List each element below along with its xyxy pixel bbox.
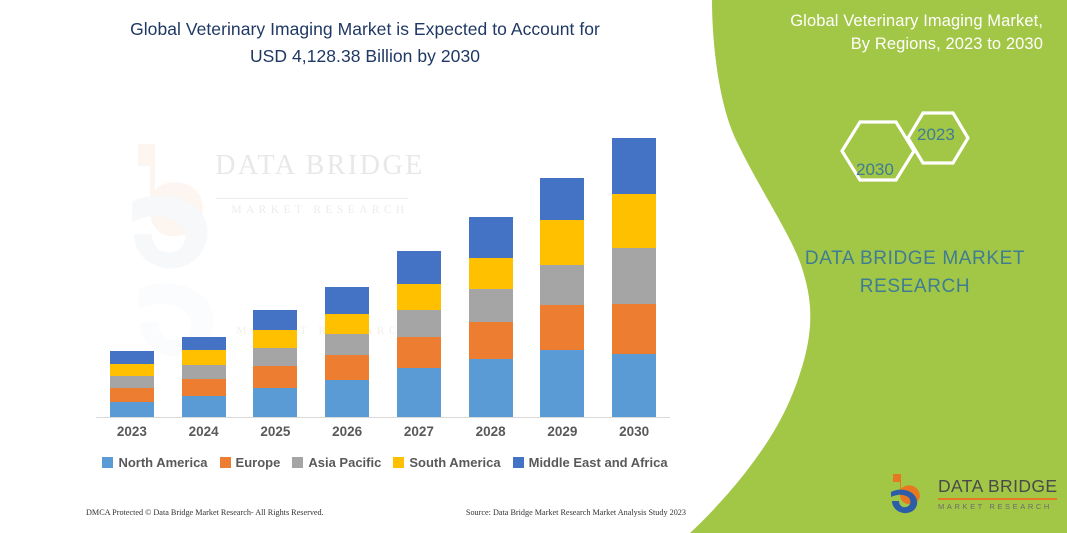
- x-axis-labels: 20232024202520262027202820292030: [96, 424, 670, 446]
- bar-segment-europe[interactable]: [253, 366, 297, 388]
- bar-segment-asia-pacific[interactable]: [325, 334, 369, 355]
- bar-column-2029[interactable]: [540, 178, 584, 418]
- panel-title-line1: Global Veterinary Imaging Market,: [743, 10, 1043, 33]
- footer-right-text: Source: Data Bridge Market Research Mark…: [466, 508, 686, 517]
- bar-segment-europe[interactable]: [540, 305, 584, 350]
- bar-segment-middle-east-and-africa[interactable]: [540, 178, 584, 220]
- bar-segment-north-america[interactable]: [612, 354, 656, 418]
- bar-segment-north-america[interactable]: [325, 380, 369, 418]
- bar-segment-europe[interactable]: [612, 304, 656, 354]
- bar-segment-south-america[interactable]: [540, 220, 584, 265]
- legend-label: North America: [118, 455, 207, 470]
- bar-segment-south-america[interactable]: [612, 194, 656, 248]
- bar-segment-asia-pacific[interactable]: [540, 265, 584, 305]
- hex-label-2030: 2030: [856, 160, 894, 180]
- bar-column-2026[interactable]: [325, 287, 369, 418]
- legend-label: Europe: [236, 455, 281, 470]
- legend-item-europe[interactable]: Europe: [220, 455, 281, 470]
- bar-segment-europe[interactable]: [182, 379, 226, 396]
- chart-title-line1: Global Veterinary Imaging Market is Expe…: [40, 16, 690, 43]
- bar-segment-middle-east-and-africa[interactable]: [253, 310, 297, 330]
- bar-segment-south-america[interactable]: [110, 364, 154, 376]
- bar-column-2028[interactable]: [469, 217, 513, 418]
- bar-segment-asia-pacific[interactable]: [253, 348, 297, 366]
- bar-segment-europe[interactable]: [110, 388, 154, 402]
- bar-column-2030[interactable]: [612, 138, 656, 418]
- infographic-canvas: Global Veterinary Imaging Market, By Reg…: [0, 0, 1067, 533]
- bar-segment-europe[interactable]: [397, 337, 441, 368]
- logo-divider: [938, 498, 1057, 500]
- legend-swatch-icon: [292, 457, 303, 468]
- bar-segment-north-america[interactable]: [540, 350, 584, 418]
- bar-segment-middle-east-and-africa[interactable]: [612, 138, 656, 194]
- panel-title-line2: By Regions, 2023 to 2030: [743, 33, 1043, 56]
- bar-segment-north-america[interactable]: [397, 368, 441, 418]
- logo-name-big: DATA BRIDGE: [938, 478, 1057, 496]
- brand-line-1: DATA BRIDGE MARKET: [790, 245, 1040, 273]
- bar-column-2024[interactable]: [182, 337, 226, 418]
- bar-segment-north-america[interactable]: [469, 359, 513, 418]
- legend-item-south-america[interactable]: South America: [393, 455, 500, 470]
- panel-brand-text: DATA BRIDGE MARKET RESEARCH: [790, 245, 1040, 300]
- x-axis-label-2027: 2027: [383, 424, 455, 439]
- legend-label: Asia Pacific: [308, 455, 381, 470]
- bar-column-2023[interactable]: [110, 351, 154, 418]
- legend-item-asia-pacific[interactable]: Asia Pacific: [292, 455, 381, 470]
- bar-segment-middle-east-and-africa[interactable]: [325, 287, 369, 314]
- x-axis-label-2023: 2023: [96, 424, 168, 439]
- legend-swatch-icon: [102, 457, 113, 468]
- data-bridge-logo: DATA BRIDGE MARKET RESEARCH: [888, 470, 1058, 518]
- legend-item-north-america[interactable]: North America: [102, 455, 207, 470]
- x-axis-label-2030: 2030: [598, 424, 670, 439]
- bar-column-2025[interactable]: [253, 310, 297, 418]
- stacked-bar-chart: [96, 118, 670, 418]
- bar-segment-north-america[interactable]: [182, 396, 226, 418]
- legend-item-middle-east-and-africa[interactable]: Middle East and Africa: [513, 455, 668, 470]
- legend-swatch-icon: [393, 457, 404, 468]
- legend-label: South America: [409, 455, 500, 470]
- bar-segment-north-america[interactable]: [253, 388, 297, 418]
- x-axis-label-2026: 2026: [311, 424, 383, 439]
- footer: DMCA Protected © Data Bridge Market Rese…: [86, 508, 686, 517]
- bar-segment-asia-pacific[interactable]: [110, 376, 154, 388]
- footer-left-text: DMCA Protected © Data Bridge Market Rese…: [86, 508, 324, 517]
- panel-title: Global Veterinary Imaging Market, By Reg…: [743, 10, 1043, 57]
- bar-segment-asia-pacific[interactable]: [182, 365, 226, 379]
- bar-column-2027[interactable]: [397, 251, 441, 418]
- x-axis-label-2028: 2028: [455, 424, 527, 439]
- bar-segment-south-america[interactable]: [325, 314, 369, 334]
- bar-segment-europe[interactable]: [325, 355, 369, 380]
- bar-segment-europe[interactable]: [469, 322, 513, 359]
- bar-segment-middle-east-and-africa[interactable]: [110, 351, 154, 364]
- bar-segment-middle-east-and-africa[interactable]: [469, 217, 513, 258]
- x-axis-label-2025: 2025: [239, 424, 311, 439]
- bar-segment-south-america[interactable]: [182, 350, 226, 365]
- legend-swatch-icon: [220, 457, 231, 468]
- bar-segment-north-america[interactable]: [110, 402, 154, 418]
- hex-label-2023: 2023: [917, 125, 955, 145]
- legend-label: Middle East and Africa: [529, 455, 668, 470]
- bar-segment-south-america[interactable]: [397, 284, 441, 310]
- bar-segment-middle-east-and-africa[interactable]: [397, 251, 441, 284]
- brand-line-2: RESEARCH: [790, 273, 1040, 301]
- chart-legend: North AmericaEuropeAsia PacificSouth Ame…: [96, 455, 674, 470]
- bar-segment-asia-pacific[interactable]: [397, 310, 441, 337]
- chart-title-line2: USD 4,128.38 Billion by 2030: [40, 43, 690, 70]
- data-bridge-logo-icon: [888, 472, 930, 516]
- legend-swatch-icon: [513, 457, 524, 468]
- x-axis-line: [96, 417, 670, 418]
- chart-title: Global Veterinary Imaging Market is Expe…: [40, 16, 690, 70]
- bar-segment-asia-pacific[interactable]: [469, 289, 513, 322]
- bar-segment-south-america[interactable]: [469, 258, 513, 289]
- logo-name-small: MARKET RESEARCH: [938, 503, 1057, 511]
- bar-segment-south-america[interactable]: [253, 330, 297, 348]
- bar-segment-asia-pacific[interactable]: [612, 248, 656, 304]
- data-bridge-logo-text: DATA BRIDGE MARKET RESEARCH: [938, 478, 1057, 511]
- x-axis-label-2024: 2024: [168, 424, 240, 439]
- x-axis-label-2029: 2029: [526, 424, 598, 439]
- hexagon-group: 2023 2030: [820, 96, 990, 206]
- bar-segment-middle-east-and-africa[interactable]: [182, 337, 226, 350]
